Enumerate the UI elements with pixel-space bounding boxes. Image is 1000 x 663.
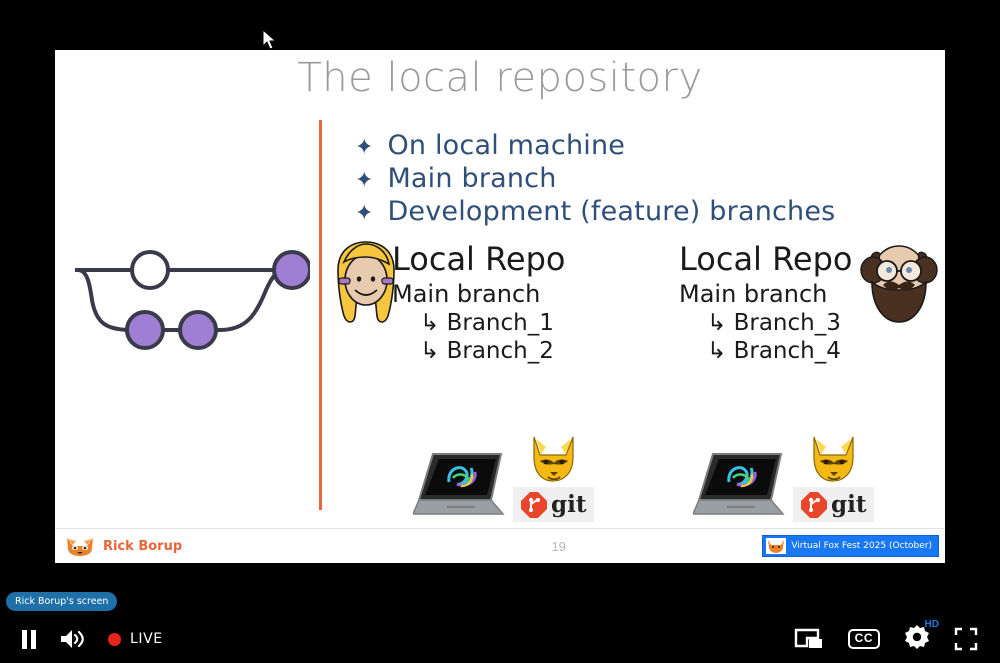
bullet-item: ✦ Main branch [355, 163, 895, 194]
fox-head-icon [65, 535, 95, 557]
laptop-icon [693, 450, 789, 522]
event-fox-icon [766, 538, 786, 554]
player-control-bar: LIVE CC HD [0, 615, 1000, 663]
repo-branch: ↳ Branch_4 [655, 338, 945, 364]
presenter-name: Rick Borup [103, 539, 182, 554]
git-logo: git [513, 487, 594, 522]
local-repo-left: Local Repo Main branch ↳ Branch_1 ↳ Bran… [330, 242, 620, 364]
event-badge: Virtual Fox Fest 2025 (October) [762, 535, 939, 557]
bullet-item: ✦ Development (feature) branches [355, 196, 895, 227]
girl-avatar-icon [330, 240, 402, 328]
slide-page-number: 19 [355, 539, 762, 554]
bullet-text: Development (feature) branches [387, 196, 835, 227]
repo-branch: ↳ Branch_2 [330, 338, 620, 364]
pause-bar-right [31, 630, 36, 649]
bullet-item: ✦ On local machine [355, 130, 895, 161]
slide-title: The local repository [55, 55, 945, 101]
fullscreen-icon[interactable] [954, 627, 978, 651]
foxpro-fox-icon [526, 433, 582, 485]
slide-footer: Rick Borup 19 Virtual Fox Fest 2025 (Oct… [55, 528, 945, 563]
local-repo-right: Local Repo Main branch ↳ Branch_3 ↳ Bran… [655, 242, 945, 364]
hd-quality-badge: HD [925, 619, 939, 630]
git-logo: git [793, 487, 874, 522]
bullet-text: On local machine [387, 130, 625, 161]
presenter-credit: Rick Borup [55, 535, 355, 557]
live-indicator[interactable]: LIVE [108, 631, 163, 647]
git-diamond-icon [521, 492, 547, 518]
closed-captions-button[interactable]: CC [848, 629, 880, 648]
git-diamond-icon [801, 492, 827, 518]
git-branch-diagram [70, 245, 310, 360]
bearded-man-avatar-icon [853, 238, 945, 326]
presentation-slide: The local repository ✦ On local machine [55, 50, 945, 563]
pause-bar-left [22, 630, 27, 649]
mouse-cursor-icon [262, 29, 278, 51]
live-dot-icon [108, 633, 121, 646]
bullet-list: ✦ On local machine ✦ Main branch ✦ Devel… [355, 130, 895, 229]
volume-icon[interactable] [58, 627, 86, 651]
video-player: The local repository ✦ On local machine [0, 0, 1000, 663]
screen-share-label: Rick Borup's screen [6, 592, 117, 611]
star-bullet-icon: ✦ [355, 202, 373, 224]
pause-button[interactable] [22, 630, 36, 649]
device-group-right: git [693, 433, 874, 522]
star-bullet-icon: ✦ [355, 169, 373, 191]
accent-divider-line [319, 120, 322, 510]
foxpro-fox-icon [806, 433, 862, 485]
git-logo-text: git [551, 491, 586, 518]
laptop-icon [413, 450, 509, 522]
bullet-text: Main branch [387, 163, 556, 194]
git-logo-text: git [831, 491, 866, 518]
live-label: LIVE [130, 631, 163, 647]
star-bullet-icon: ✦ [355, 136, 373, 158]
event-badge-label: Virtual Fox Fest 2025 (October) [791, 541, 932, 551]
settings-quality-button[interactable]: HD [904, 624, 930, 655]
picture-in-picture-icon[interactable] [794, 627, 824, 651]
device-group-left: git [413, 433, 594, 522]
